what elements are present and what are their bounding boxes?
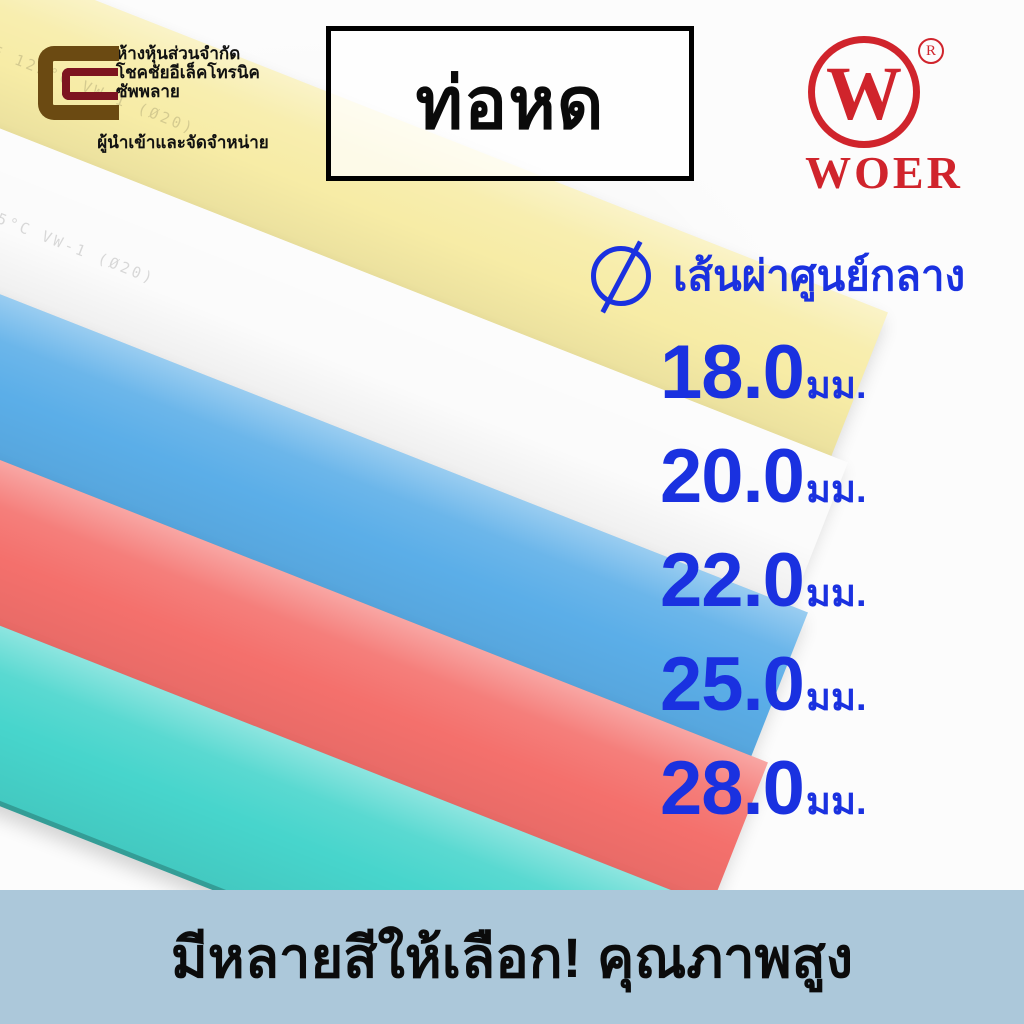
woer-wordmark: WOER: [794, 146, 974, 199]
woer-w-letter: W: [826, 60, 902, 128]
size-unit: มม.: [806, 471, 867, 509]
size-value: 28.0: [660, 751, 804, 827]
company-tagline: ผู้นำเข้าและจัดจำหน่าย: [38, 129, 328, 156]
logo-inner-c: [62, 68, 110, 100]
size-value: 25.0: [660, 647, 804, 723]
diameter-label: เส้นผ่าศูนย์กลาง: [673, 255, 965, 297]
woer-logo: W R WOER: [790, 34, 990, 194]
size-item: 20.0 มม.: [660, 439, 1024, 543]
registered-trademark-icon: R: [918, 38, 944, 64]
size-item: 22.0 มม.: [660, 543, 1024, 647]
size-item: 28.0 มม.: [660, 751, 1024, 855]
size-value: 18.0: [660, 335, 804, 411]
company-name: ห้างหุ้นส่วนจำกัด โชคชัยอีเล็คโทรนิค ซัพ…: [116, 42, 260, 101]
size-unit: มม.: [806, 679, 867, 717]
company-brand-row: ห้างหุ้นส่วนจำกัด โชคชัยอีเล็คโทรนิค ซัพ…: [38, 42, 328, 120]
diameter-heading: เส้นผ่าศูนย์กลาง: [583, 240, 965, 312]
size-item: 18.0 มม.: [660, 335, 1024, 439]
company-name-line-1: ห้างหุ้นส่วนจำกัด: [116, 44, 260, 63]
product-title-box: ท่อหด: [326, 26, 694, 181]
page-title: ท่อหด: [416, 68, 605, 140]
company-name-line-3: ซัพพลาย: [116, 82, 260, 101]
woer-circle-icon: W: [808, 36, 920, 148]
diameter-symbol-icon: [583, 240, 659, 312]
size-unit: มม.: [806, 783, 867, 821]
size-item: 25.0 มม.: [660, 647, 1024, 751]
company-name-line-2: โชคชัยอีเล็คโทรนิค: [116, 63, 260, 82]
bottom-banner: มีหลายสีให้เลือก! คุณภาพสูง: [0, 890, 1024, 1024]
size-unit: มม.: [806, 575, 867, 613]
product-image: CHOKCHAI ELECTRONIC SUPPLIES LTD., PART …: [0, 0, 1024, 1024]
company-brand-block: ห้างหุ้นส่วนจำกัด โชคชัยอีเล็คโทรนิค ซัพ…: [38, 42, 328, 156]
size-value: 20.0: [660, 439, 804, 515]
size-list: 18.0 มม. 20.0 มม. 22.0 มม. 25.0 มม. 28.0…: [660, 335, 1024, 855]
size-value: 22.0: [660, 543, 804, 619]
banner-text: มีหลายสีให้เลือก! คุณภาพสูง: [171, 913, 853, 1002]
size-unit: มม.: [806, 367, 867, 405]
chokchai-c-logo-icon: [38, 46, 104, 120]
